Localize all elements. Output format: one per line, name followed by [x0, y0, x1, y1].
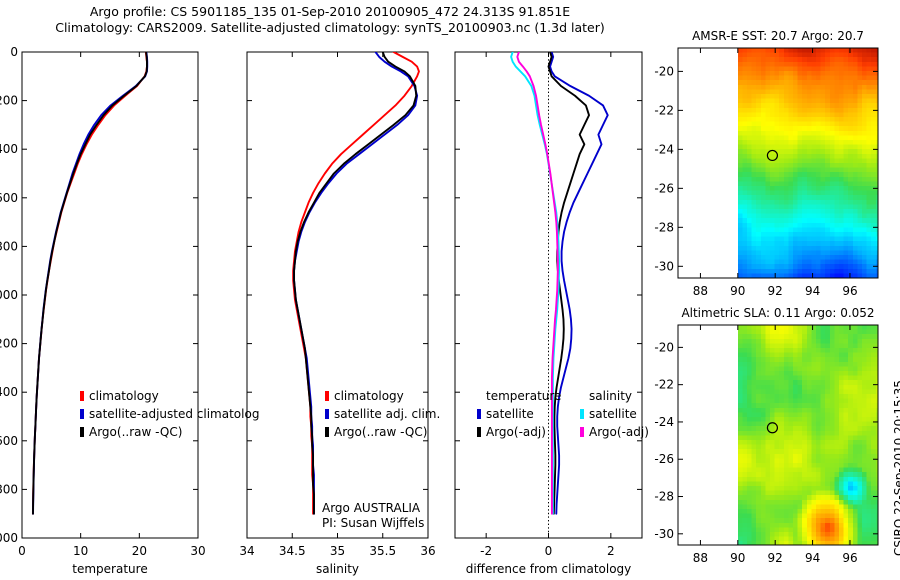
heatmap-cell: [811, 108, 816, 113]
heatmap-cell: [788, 472, 793, 477]
heatmap-cell: [788, 348, 793, 353]
heatmap-cell: [793, 200, 798, 205]
heatmap-cell: [857, 394, 862, 399]
heatmap-cell: [756, 353, 761, 358]
heatmap-cell: [848, 122, 853, 127]
heatmap-cell: [862, 537, 867, 542]
heatmap-cell: [848, 117, 853, 122]
heatmap-cell: [821, 518, 826, 523]
heatmap-cell: [775, 112, 780, 117]
heatmap-cell: [779, 57, 784, 62]
heatmap-cell: [853, 191, 858, 196]
heatmap-cell: [867, 108, 872, 113]
heatmap-cell: [807, 62, 812, 67]
heatmap-cell: [798, 163, 803, 168]
heatmap-cell: [784, 412, 789, 417]
heatmap-cell: [862, 362, 867, 367]
heatmap-cell: [839, 454, 844, 459]
heatmap-cell: [775, 445, 780, 450]
heatmap-cell: [811, 362, 816, 367]
series-line: [33, 52, 147, 514]
heatmap-cell: [848, 477, 853, 482]
heatmap-cell: [807, 532, 812, 537]
heatmap-cell: [821, 108, 826, 113]
heatmap-cell: [834, 514, 839, 519]
heatmap-cell: [738, 227, 743, 232]
heatmap-cell: [816, 371, 821, 376]
heatmap-cell: [761, 481, 766, 486]
heatmap-cell: [867, 481, 872, 486]
heatmap-cell: [848, 200, 853, 205]
heatmap-cell: [756, 472, 761, 477]
heatmap-cell: [821, 380, 826, 385]
heatmap-cell: [853, 108, 858, 113]
heatmap-cell: [839, 168, 844, 173]
heatmap-cell: [821, 122, 826, 127]
heatmap-cell: [830, 149, 835, 154]
heatmap-cell: [821, 80, 826, 85]
heatmap-cell: [816, 135, 821, 140]
heatmap-cell: [784, 191, 789, 196]
heatmap-cell: [747, 218, 752, 223]
heatmap-cell: [807, 385, 812, 390]
heatmap-cell: [830, 366, 835, 371]
heatmap-cell: [853, 209, 858, 214]
heatmap-cell: [779, 449, 784, 454]
heatmap-cell: [807, 527, 812, 532]
heatmap-cell: [839, 431, 844, 436]
heatmap-cell: [761, 122, 766, 127]
heatmap-cell: [871, 389, 876, 394]
heatmap-cell: [862, 112, 867, 117]
heatmap-cell: [738, 435, 743, 440]
heatmap-cell: [775, 108, 780, 113]
heatmap-cell: [867, 357, 872, 362]
heatmap-cell: [821, 131, 826, 136]
heatmap-cell: [807, 85, 812, 90]
heatmap-cell: [825, 99, 830, 104]
heatmap-cell: [867, 537, 872, 542]
heatmap-cell: [848, 509, 853, 514]
heatmap-cell: [742, 385, 747, 390]
heatmap-cell: [821, 422, 826, 427]
heatmap-cell: [853, 218, 858, 223]
heatmap-cell: [784, 523, 789, 528]
heatmap-cell: [811, 204, 816, 209]
heatmap-cell: [761, 399, 766, 404]
heatmap-cell: [830, 435, 835, 440]
heatmap-cell: [848, 131, 853, 136]
heatmap-cell: [756, 191, 761, 196]
heatmap-cell: [857, 131, 862, 136]
heatmap-cell: [825, 357, 830, 362]
heatmap-cell: [798, 527, 803, 532]
heatmap-cell: [752, 62, 757, 67]
salinity-panel: 3434.53535.536salinityclimatologysatelli…: [239, 52, 440, 576]
heatmap-cell: [752, 66, 757, 71]
heatmap-cell: [821, 99, 826, 104]
heatmap-cell: [779, 435, 784, 440]
heatmap-cell: [784, 237, 789, 242]
heatmap-cell: [857, 449, 862, 454]
heatmap-cell: [848, 504, 853, 509]
heatmap-cell: [839, 399, 844, 404]
svg-text:-30: -30: [654, 259, 674, 273]
heatmap-cell: [788, 255, 793, 260]
heatmap-cell: [867, 145, 872, 150]
heatmap-cell: [793, 481, 798, 486]
heatmap-cell: [784, 325, 789, 330]
heatmap-cell: [848, 376, 853, 381]
svg-text:-26: -26: [654, 452, 674, 466]
heatmap-cell: [844, 408, 849, 413]
heatmap-cell: [784, 408, 789, 413]
heatmap-cell: [775, 76, 780, 81]
heatmap-cell: [834, 491, 839, 496]
heatmap-cell: [848, 408, 853, 413]
heatmap-cell: [848, 126, 853, 131]
heatmap-cell: [793, 112, 798, 117]
heatmap-cell: [867, 463, 872, 468]
heatmap-cell: [761, 422, 766, 427]
heatmap-cell: [871, 76, 876, 81]
heatmap-cell: [779, 325, 784, 330]
heatmap-cell: [756, 408, 761, 413]
heatmap-cell: [853, 131, 858, 136]
heatmap-cell: [862, 339, 867, 344]
heatmap-cell: [765, 264, 770, 269]
heatmap-cell: [765, 195, 770, 200]
heatmap-cell: [779, 181, 784, 186]
heatmap-cell: [871, 445, 876, 450]
heatmap-cell: [830, 200, 835, 205]
heatmap-cell: [807, 269, 812, 274]
heatmap-cell: [765, 523, 770, 528]
heatmap-cell: [811, 232, 816, 237]
heatmap-cell: [779, 117, 784, 122]
heatmap-cell: [784, 491, 789, 496]
heatmap-cell: [784, 454, 789, 459]
heatmap-cell: [747, 491, 752, 496]
heatmap-cell: [802, 472, 807, 477]
heatmap-cell: [752, 158, 757, 163]
heatmap-cell: [853, 477, 858, 482]
heatmap-cell: [867, 53, 872, 58]
heatmap-cell: [862, 445, 867, 450]
heatmap-cell: [775, 145, 780, 150]
heatmap-cell: [853, 408, 858, 413]
heatmap-cell: [825, 168, 830, 173]
heatmap-cell: [793, 218, 798, 223]
heatmap-cell: [738, 264, 743, 269]
heatmap-cell: [811, 509, 816, 514]
heatmap-cell: [816, 103, 821, 108]
heatmap-cell: [816, 140, 821, 145]
heatmap-cell: [871, 399, 876, 404]
heatmap-cell: [867, 209, 872, 214]
heatmap-cell: [802, 158, 807, 163]
title-line-1: Argo profile: CS 5901185_135 01-Sep-2010…: [0, 4, 660, 20]
heatmap-cell: [848, 366, 853, 371]
heatmap-cell: [765, 454, 770, 459]
heatmap-cell: [742, 214, 747, 219]
heatmap-cell: [756, 57, 761, 62]
heatmap-cell: [871, 237, 876, 242]
heatmap-cell: [830, 269, 835, 274]
heatmap-cell: [830, 209, 835, 214]
heatmap-cell: [862, 131, 867, 136]
heatmap-cell: [821, 486, 826, 491]
heatmap-cell: [839, 495, 844, 500]
heatmap-cell: [853, 330, 858, 335]
heatmap-cell: [765, 339, 770, 344]
heatmap-cell: [862, 85, 867, 90]
heatmap-cell: [738, 140, 743, 145]
heatmap-cell: [770, 509, 775, 514]
heatmap-cell: [811, 200, 816, 205]
heatmap-cell: [784, 57, 789, 62]
heatmap-cell: [747, 126, 752, 131]
heatmap-cell: [867, 371, 872, 376]
heatmap-cell: [807, 500, 812, 505]
heatmap-cell: [765, 481, 770, 486]
heatmap-cell: [857, 112, 862, 117]
heatmap-cell: [857, 181, 862, 186]
heatmap-cell: [839, 135, 844, 140]
heatmap-cell: [830, 85, 835, 90]
heatmap-cell: [871, 260, 876, 265]
heatmap-cell: [857, 117, 862, 122]
heatmap-cell: [756, 200, 761, 205]
heatmap-cell: [770, 445, 775, 450]
heatmap-cell: [857, 94, 862, 99]
heatmap-cell: [752, 532, 757, 537]
heatmap-cell: [839, 255, 844, 260]
heatmap-cell: [844, 85, 849, 90]
heatmap-cell: [848, 232, 853, 237]
heatmap-cell: [839, 264, 844, 269]
heatmap-cell: [770, 172, 775, 177]
heatmap-cell: [834, 204, 839, 209]
heatmap-cell: [793, 94, 798, 99]
heatmap-cell: [807, 325, 812, 330]
heatmap-cell: [761, 85, 766, 90]
heatmap-cell: [825, 514, 830, 519]
heatmap-cell: [816, 412, 821, 417]
heatmap-cell: [867, 48, 872, 53]
heatmap-cell: [752, 504, 757, 509]
heatmap-cell: [802, 85, 807, 90]
heatmap-cell: [830, 495, 835, 500]
heatmap-cell: [752, 117, 757, 122]
heatmap-cell: [821, 408, 826, 413]
heatmap-cell: [830, 362, 835, 367]
svg-text:88: 88: [693, 551, 708, 565]
heatmap-cell: [825, 532, 830, 537]
heatmap-cell: [756, 468, 761, 473]
svg-text:0: 0: [18, 544, 26, 558]
heatmap-cell: [738, 117, 743, 122]
heatmap-cell: [747, 149, 752, 154]
heatmap-cell: [807, 76, 812, 81]
heatmap-cell: [770, 486, 775, 491]
heatmap-cell: [784, 126, 789, 131]
heatmap-cell: [825, 209, 830, 214]
heatmap-cell: [752, 537, 757, 542]
heatmap-cell: [779, 108, 784, 113]
heatmap-cell: [839, 214, 844, 219]
heatmap-cell: [765, 200, 770, 205]
heatmap-cell: [821, 237, 826, 242]
heatmap-cell: [844, 458, 849, 463]
heatmap-cell: [775, 200, 780, 205]
heatmap-cell: [765, 66, 770, 71]
heatmap-cell: [793, 412, 798, 417]
heatmap-cell: [798, 325, 803, 330]
heatmap-cell: [788, 62, 793, 67]
heatmap-cell: [867, 112, 872, 117]
heatmap-cell: [738, 186, 743, 191]
heatmap-cell: [798, 227, 803, 232]
heatmap-cell: [793, 250, 798, 255]
heatmap-cell: [784, 80, 789, 85]
heatmap-cell: [830, 140, 835, 145]
heatmap-cell: [798, 200, 803, 205]
heatmap-cell: [747, 223, 752, 228]
heatmap-cell: [761, 177, 766, 182]
svg-text:90: 90: [730, 284, 745, 298]
heatmap-cell: [848, 348, 853, 353]
heatmap-cell: [742, 89, 747, 94]
heatmap-cell: [793, 255, 798, 260]
heatmap-cell: [825, 191, 830, 196]
heatmap-cell: [862, 48, 867, 53]
heatmap-cell: [844, 440, 849, 445]
heatmap-cell: [821, 85, 826, 90]
heatmap-cell: [784, 504, 789, 509]
heatmap-cell: [839, 491, 844, 496]
svg-text:climatology: climatology: [89, 389, 159, 403]
heatmap-cell: [752, 380, 757, 385]
heatmap-cell: [839, 209, 844, 214]
heatmap-cell: [862, 62, 867, 67]
legend-swatch: [580, 427, 584, 437]
heatmap-cell: [825, 85, 830, 90]
heatmap-cell: [821, 481, 826, 486]
heatmap-cell: [811, 463, 816, 468]
heatmap-cell: [871, 241, 876, 246]
heatmap-cell: [867, 126, 872, 131]
heatmap-cell: [770, 491, 775, 496]
heatmap-cell: [802, 260, 807, 265]
heatmap-cell: [779, 339, 784, 344]
heatmap-cell: [821, 330, 826, 335]
heatmap-cell: [756, 463, 761, 468]
heatmap-cell: [821, 527, 826, 532]
series-line: [517, 52, 558, 514]
heatmap-cell: [816, 389, 821, 394]
svg-text:Argo(-adj): Argo(-adj): [589, 425, 649, 439]
svg-text:35.5: 35.5: [369, 544, 396, 558]
heatmap-cell: [825, 422, 830, 427]
heatmap-cell: [839, 527, 844, 532]
heatmap-cell: [811, 339, 816, 344]
heatmap-cell: [848, 385, 853, 390]
heatmap-cell: [834, 422, 839, 427]
heatmap-cell: [807, 440, 812, 445]
heatmap-cell: [756, 532, 761, 537]
heatmap-cell: [848, 491, 853, 496]
heatmap-cell: [752, 131, 757, 136]
heatmap-cell: [738, 232, 743, 237]
heatmap-cell: [853, 227, 858, 232]
heatmap-cell: [742, 518, 747, 523]
heatmap-cell: [793, 103, 798, 108]
heatmap-cell: [798, 103, 803, 108]
heatmap-cell: [844, 376, 849, 381]
heatmap-cell: [825, 76, 830, 81]
heatmap-cell: [830, 195, 835, 200]
heatmap-cell: [802, 214, 807, 219]
sst-map: AMSR-E SST: 20.7 Argo: 20.78890929496-20…: [654, 29, 878, 298]
heatmap-cell: [834, 241, 839, 246]
heatmap-cell: [775, 172, 780, 177]
heatmap-cell: [807, 371, 812, 376]
heatmap-cell: [798, 509, 803, 514]
heatmap-cell: [761, 380, 766, 385]
heatmap-cell: [834, 449, 839, 454]
heatmap-cell: [765, 108, 770, 113]
heatmap-cell: [798, 181, 803, 186]
heatmap-cell: [747, 181, 752, 186]
heatmap-cell: [853, 223, 858, 228]
heatmap-cell: [765, 500, 770, 505]
heatmap-cell: [844, 385, 849, 390]
heatmap-cell: [811, 408, 816, 413]
heatmap-cell: [798, 454, 803, 459]
heatmap-cell: [752, 325, 757, 330]
heatmap-cell: [857, 376, 862, 381]
heatmap-cell: [798, 371, 803, 376]
heatmap-cell: [853, 357, 858, 362]
heatmap-cell: [747, 89, 752, 94]
heatmap-cell: [839, 76, 844, 81]
heatmap-cell: [848, 440, 853, 445]
heatmap-cell: [834, 376, 839, 381]
heatmap-cell: [802, 195, 807, 200]
heatmap-cell: [793, 140, 798, 145]
heatmap-cell: [738, 472, 743, 477]
heatmap-cell: [839, 334, 844, 339]
heatmap-cell: [839, 177, 844, 182]
heatmap-cell: [761, 246, 766, 251]
heatmap-cell: [793, 417, 798, 422]
heatmap-cell: [816, 491, 821, 496]
heatmap-cell: [848, 339, 853, 344]
svg-text:35: 35: [330, 544, 345, 558]
heatmap-cell: [742, 339, 747, 344]
heatmap-cell: [867, 477, 872, 482]
legend-swatch: [80, 391, 84, 401]
heatmap-cell: [811, 126, 816, 131]
heatmap-cell: [747, 250, 752, 255]
heatmap-cell: [756, 440, 761, 445]
heatmap-cell: [738, 454, 743, 459]
heatmap-cell: [830, 527, 835, 532]
plot-canvas: 0200400600800100012001400160018002000010…: [0, 0, 900, 580]
heatmap-cell: [811, 417, 816, 422]
heatmap-cell: [779, 154, 784, 159]
